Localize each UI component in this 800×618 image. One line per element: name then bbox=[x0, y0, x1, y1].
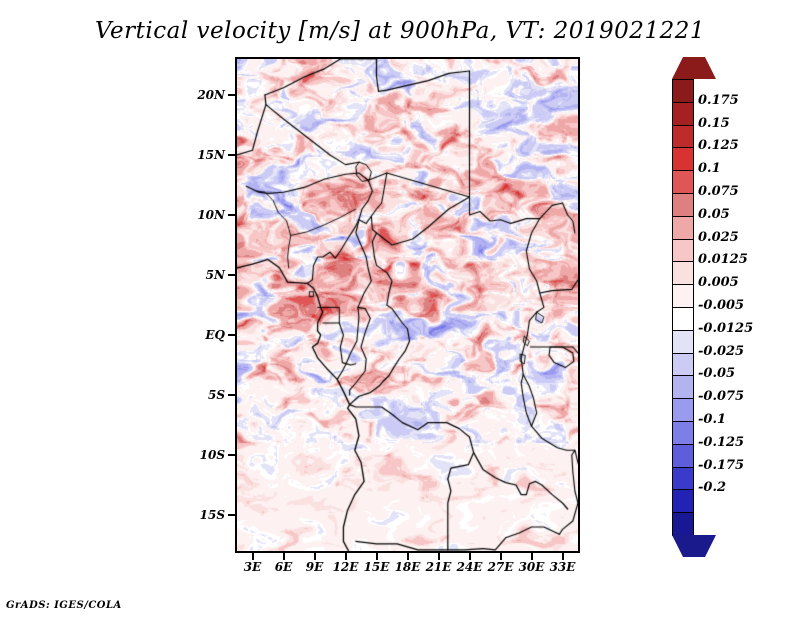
y-axis-label: 5N bbox=[185, 268, 225, 282]
page-title: Vertical velocity [m/s] at 900hPa, VT: 2… bbox=[0, 18, 800, 44]
colorbar-tick-label: 0.075 bbox=[698, 185, 739, 198]
colorbar-swatch bbox=[672, 102, 694, 126]
colorbar-tick-label: -0.075 bbox=[698, 390, 744, 403]
y-axis-label: 15N bbox=[185, 148, 225, 162]
x-tick-mark bbox=[438, 553, 440, 560]
y-axis-label: 10S bbox=[185, 448, 225, 462]
colorbar-swatch bbox=[672, 375, 694, 399]
colorbar-swatch bbox=[672, 398, 694, 422]
colorbar-swatch bbox=[672, 147, 694, 171]
y-tick-mark bbox=[228, 394, 235, 396]
colorbar-tick-label: -0.175 bbox=[698, 459, 744, 472]
vertical-velocity-field bbox=[237, 59, 578, 551]
x-tick-mark bbox=[562, 553, 564, 560]
colorbar-tick-label: -0.1 bbox=[698, 413, 726, 426]
colorbar-tick-label: 0.05 bbox=[698, 208, 730, 221]
y-axis-label: 20N bbox=[185, 88, 225, 102]
y-axis-label: 15S bbox=[185, 508, 225, 522]
colorbar-tick-label: 0.15 bbox=[698, 117, 730, 130]
colorbar-max-arrow bbox=[672, 57, 716, 79]
colorbar bbox=[672, 57, 694, 557]
colorbar-tick-label: -0.0125 bbox=[698, 322, 753, 335]
colorbar-swatch bbox=[672, 79, 694, 103]
x-tick-mark bbox=[531, 553, 533, 560]
y-tick-mark bbox=[228, 334, 235, 336]
y-axis-label: EQ bbox=[185, 328, 225, 342]
colorbar-tick-label: 0.0125 bbox=[698, 253, 748, 266]
colorbar-swatch bbox=[672, 261, 694, 285]
colorbar-tick-label: 0.005 bbox=[698, 276, 739, 289]
colorbar-tick-label: -0.025 bbox=[698, 345, 744, 358]
colorbar-swatch bbox=[672, 444, 694, 468]
colorbar-swatch bbox=[672, 216, 694, 240]
y-tick-mark bbox=[228, 154, 235, 156]
colorbar-swatch bbox=[672, 284, 694, 308]
y-tick-mark bbox=[228, 274, 235, 276]
y-axis-label: 5S bbox=[185, 388, 225, 402]
x-tick-mark bbox=[376, 553, 378, 560]
colorbar-swatch bbox=[672, 193, 694, 217]
colorbar-tick-label: -0.005 bbox=[698, 299, 744, 312]
colorbar-tick-label: -0.2 bbox=[698, 481, 726, 494]
y-tick-mark bbox=[228, 94, 235, 96]
x-tick-mark bbox=[407, 553, 409, 560]
colorbar-swatch bbox=[672, 421, 694, 445]
x-tick-mark bbox=[283, 553, 285, 560]
grads-credit: GrADS: IGES/COLA bbox=[6, 600, 122, 611]
colorbar-tick-label: -0.05 bbox=[698, 367, 735, 380]
y-axis-label: 10N bbox=[185, 208, 225, 222]
colorbar-swatch bbox=[672, 125, 694, 149]
x-tick-mark bbox=[314, 553, 316, 560]
y-tick-mark bbox=[228, 514, 235, 516]
colorbar-swatch bbox=[672, 330, 694, 354]
colorbar-swatch bbox=[672, 239, 694, 263]
x-tick-mark bbox=[252, 553, 254, 560]
colorbar-tick-label: -0.125 bbox=[698, 436, 744, 449]
colorbar-swatch bbox=[672, 353, 694, 377]
colorbar-swatch bbox=[672, 512, 694, 536]
map-plot-area bbox=[235, 57, 580, 553]
x-tick-mark bbox=[469, 553, 471, 560]
x-tick-mark bbox=[500, 553, 502, 560]
colorbar-swatch bbox=[672, 489, 694, 513]
colorbar-tick-label: 0.1 bbox=[698, 162, 721, 175]
y-tick-mark bbox=[228, 214, 235, 216]
colorbar-min-arrow bbox=[672, 535, 716, 557]
colorbar-swatch bbox=[672, 307, 694, 331]
colorbar-tick-label: 0.175 bbox=[698, 94, 739, 107]
colorbar-swatch bbox=[672, 170, 694, 194]
colorbar-tick-label: 0.025 bbox=[698, 231, 739, 244]
colorbar-swatch bbox=[672, 467, 694, 491]
y-tick-mark bbox=[228, 454, 235, 456]
colorbar-tick-label: 0.125 bbox=[698, 139, 739, 152]
x-tick-mark bbox=[345, 553, 347, 560]
x-axis-label: 33E bbox=[543, 560, 583, 574]
